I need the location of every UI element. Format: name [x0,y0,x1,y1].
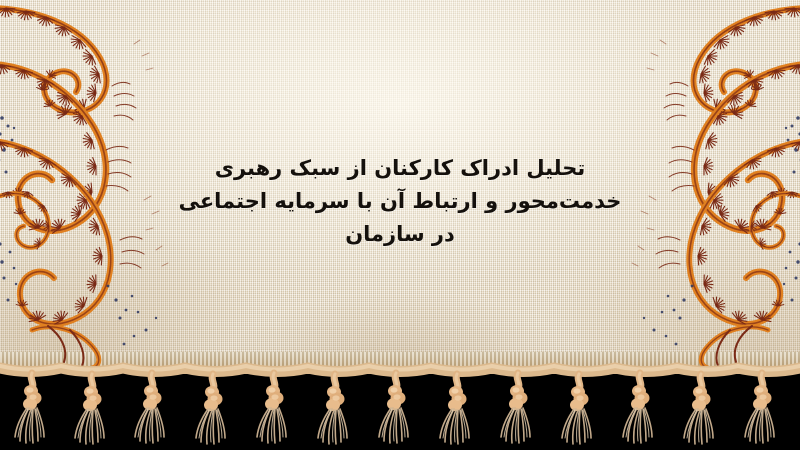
title-slide: تحلیل ادراک کارکنان از سبک رهبری خدمت‌مح… [0,0,800,450]
slide-title: تحلیل ادراک کارکنان از سبک رهبری خدمت‌مح… [0,152,800,251]
title-line-1: تحلیل ادراک کارکنان از سبک رهبری [0,152,800,185]
title-line-2: خدمت‌محور و ارتباط آن با سرمایه اجتماعی [0,185,800,218]
knotted-tassel-fringe [0,355,800,450]
title-line-3: در سازمان [0,218,800,251]
